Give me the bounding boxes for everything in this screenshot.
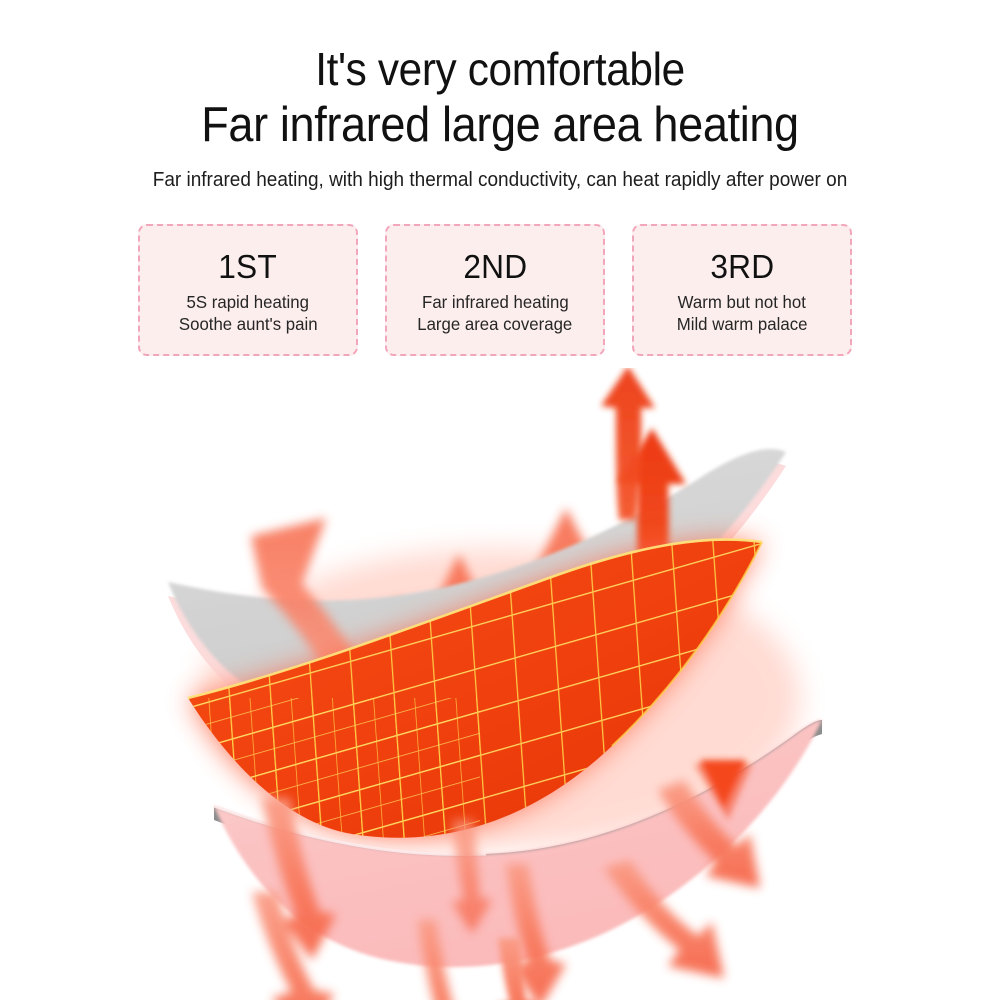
feature-desc-line-2: Mild warm palace (677, 313, 808, 335)
feature-desc-line-2: Soothe aunt's pain (179, 313, 318, 335)
page-subtitle: Far infrared heating, with high thermal … (25, 167, 975, 193)
feature-rank-label: 3RD (710, 248, 774, 286)
feature-desc-line-1: Warm but not hot (678, 291, 806, 313)
feature-desc-line-2: Large area coverage (417, 313, 572, 335)
feature-desc-line-1: Far infrared heating (422, 291, 569, 313)
feature-rank-label: 2ND (463, 248, 527, 286)
feature-rank-label: 1ST (219, 248, 278, 286)
feature-box-2nd: 2ND Far infrared heating Large area cove… (385, 224, 605, 356)
product-layer-illustration (0, 368, 1000, 1000)
feature-box-3rd: 3RD Warm but not hot Mild warm palace (632, 224, 852, 356)
feature-box-1st: 1ST 5S rapid heating Soothe aunt's pain (138, 224, 358, 356)
feature-box-list: 1ST 5S rapid heating Soothe aunt's pain … (138, 224, 852, 356)
header: It's very comfortable Far infrared large… (0, 0, 1000, 193)
page-title-line-2: Far infrared large area heating (40, 97, 960, 153)
feature-desc-line-1: 5S rapid heating (187, 291, 309, 313)
page-title-line-1: It's very comfortable (40, 42, 960, 96)
infographic-page: It's very comfortable Far infrared large… (0, 0, 1000, 1000)
